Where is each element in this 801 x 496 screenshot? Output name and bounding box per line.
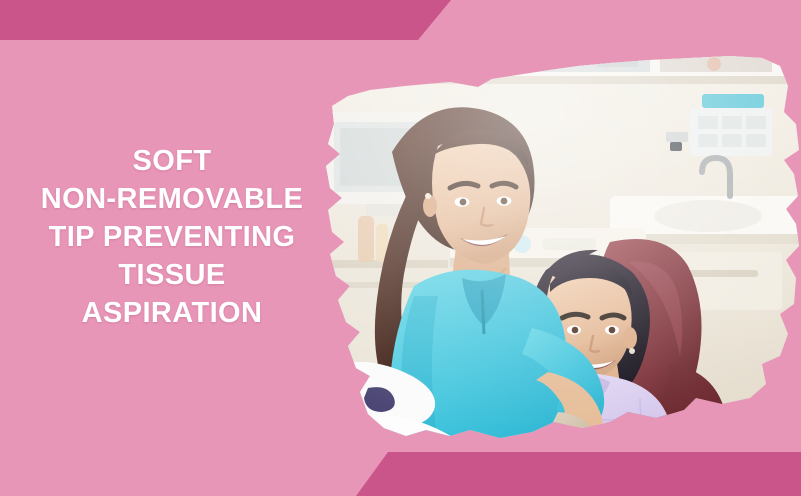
headline-line-2: NON-REMOVABLE (0, 180, 344, 218)
clinic-photo (310, 46, 801, 446)
bottom-angled-band (0, 452, 801, 496)
headline-line-1: SOFT (0, 142, 344, 180)
promo-banner: SOFT NON-REMOVABLE TIP PREVENTING TISSUE… (0, 0, 801, 496)
headline-line-3: TIP PREVENTING (0, 218, 344, 256)
headline-line-5: ASPIRATION (0, 294, 344, 332)
headline-text: SOFT NON-REMOVABLE TIP PREVENTING TISSUE… (0, 142, 344, 332)
headline-line-4: TISSUE (0, 256, 344, 294)
top-angled-band (0, 0, 801, 40)
photo-content (310, 46, 801, 446)
